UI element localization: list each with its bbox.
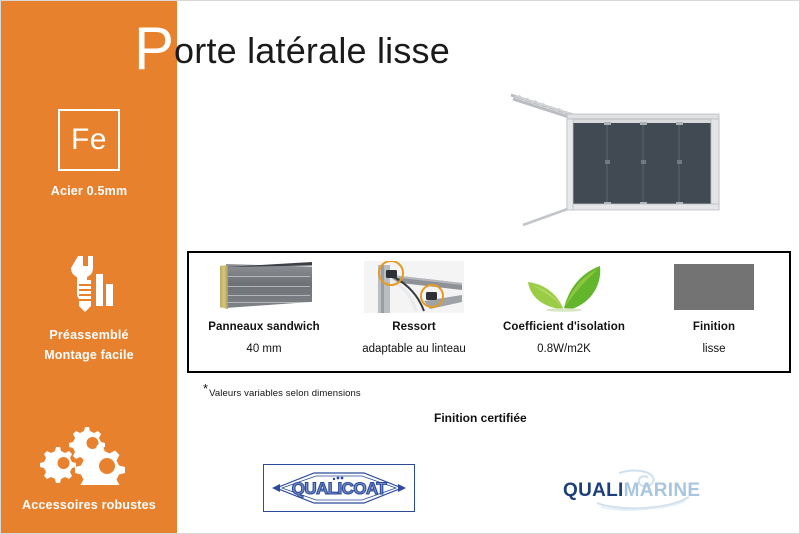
sidebar-item-accessoires: Accessoires robustes: [1, 421, 177, 515]
qualimarine-wordmark-light: MARINE: [624, 480, 701, 501]
gears-icon: [1, 421, 177, 487]
feature-coefficient-isolation: Coefficient d'isolation 0.8W/m2K: [489, 253, 639, 371]
green-leaves-icon: [520, 259, 608, 315]
sandwich-panel-image: [216, 259, 312, 315]
certification-heading: Finition certifiée: [434, 411, 527, 425]
feature-title: Finition: [693, 321, 735, 333]
feature-panneaux-sandwich: Panneaux sandwich 40 mm: [189, 253, 339, 371]
footnote-text: Valeurs variables selon dimensions: [209, 388, 361, 399]
feature-finition: Finition lisse: [639, 253, 789, 371]
feature-subtitle: 0.8W/m2K: [537, 343, 591, 355]
sidebar-item-acier: Fe Acier 0.5mm: [1, 109, 177, 201]
feature-subtitle: adaptable au linteau: [362, 343, 466, 355]
footnote: *Valeurs variables selon dimensions: [203, 381, 361, 399]
svg-text:QUALIMARINE: QUALIMARINE: [563, 480, 700, 501]
spring-mechanism-image: [364, 259, 464, 315]
product-datasheet-page: Fe Acier 0.5mm: [0, 0, 800, 534]
sidebar-item-preassemble: Préassemblé Montage facile: [1, 251, 177, 365]
finish-swatch-image: [674, 259, 754, 315]
sidebar-item-preassemble-sublabel: Montage facile: [1, 345, 177, 365]
wrench-bolt-icon: [1, 251, 177, 317]
feature-ressort: Ressort adaptable au linteau: [339, 253, 489, 371]
qualimarine-wordmark-bold: QUALI: [563, 480, 624, 501]
feature-title: Coefficient d'isolation: [503, 321, 625, 333]
footnote-asterisk: *: [203, 381, 208, 396]
page-title-rest: orte latérale lisse: [174, 30, 450, 71]
qualicoat-wordmark: QUALICOAT: [292, 479, 388, 498]
feature-title: Panneaux sandwich: [208, 321, 320, 333]
sidebar-item-acier-label: Acier 0.5mm: [1, 181, 177, 201]
fe-element-box-icon: Fe: [58, 109, 120, 171]
feature-specs-box: Panneaux sandwich 40 mm: [187, 251, 791, 373]
page-title-initial: P: [134, 15, 174, 82]
feature-subtitle: lisse: [702, 343, 725, 355]
side-door-product-photo: [501, 89, 737, 229]
qualimarine-logo: QUALIMARINE: [561, 469, 711, 511]
feature-title: Ressort: [392, 321, 436, 333]
sidebar-item-accessoires-label: Accessoires robustes: [1, 495, 177, 515]
fe-symbol-label: Fe: [71, 125, 107, 155]
feature-subtitle: 40 mm: [246, 343, 281, 355]
sidebar-item-preassemble-label: Préassemblé: [1, 325, 177, 345]
page-title: Porte latérale lisse: [134, 19, 450, 79]
qualicoat-logo: QUALICOAT: [263, 464, 415, 512]
